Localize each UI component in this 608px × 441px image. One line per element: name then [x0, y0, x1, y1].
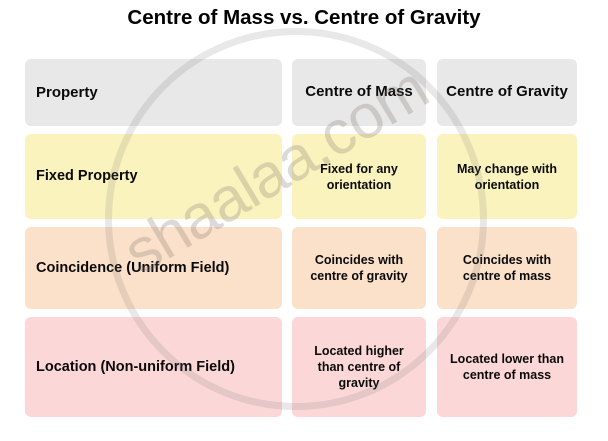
cell-property: Fixed Property [25, 134, 282, 219]
table-row: Fixed Property Fixed for any orientation… [25, 134, 577, 219]
cell-centre-of-mass: Fixed for any orientation [292, 134, 426, 219]
page-root: shaalaa.com Centre of Mass vs. Centre of… [0, 0, 608, 441]
cell-centre-of-gravity: Located lower than centre of mass [437, 317, 577, 417]
table-row: Location (Non-uniform Field) Located hig… [25, 317, 577, 417]
table-row: Coincidence (Uniform Field) Coincides wi… [25, 227, 577, 309]
cell-property: Coincidence (Uniform Field) [25, 227, 282, 309]
cell-centre-of-mass: Coincides with centre of gravity [292, 227, 426, 309]
cell-centre-of-mass: Located higher than centre of gravity [292, 317, 426, 417]
column-header-centre-of-mass: Centre of Mass [292, 59, 426, 126]
cell-property: Location (Non-uniform Field) [25, 317, 282, 417]
column-header-property: Property [25, 59, 282, 126]
cell-centre-of-gravity: May change with orientation [437, 134, 577, 219]
page-title: Centre of Mass vs. Centre of Gravity [0, 6, 608, 30]
column-header-centre-of-gravity: Centre of Gravity [437, 59, 577, 126]
table-header-row: Property Centre of Mass Centre of Gravit… [25, 59, 577, 126]
cell-centre-of-gravity: Coincides with centre of mass [437, 227, 577, 309]
comparison-table: Property Centre of Mass Centre of Gravit… [25, 59, 577, 425]
